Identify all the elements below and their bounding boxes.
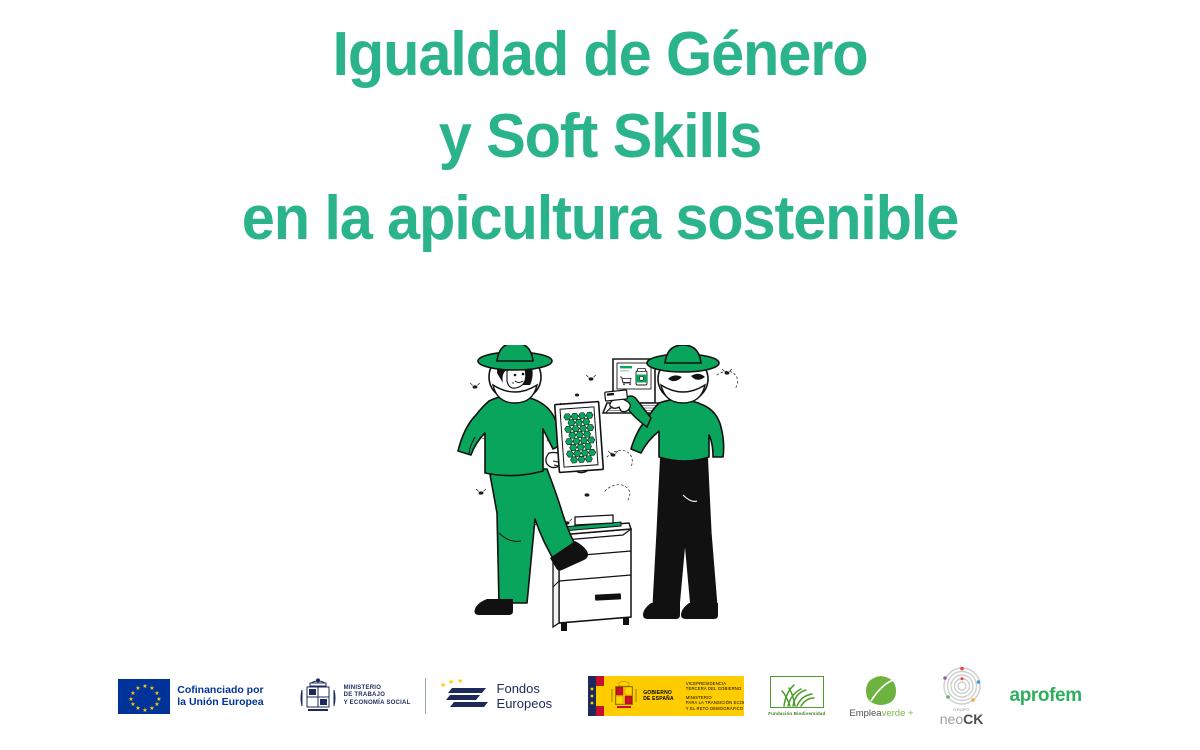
leaf-icon: [864, 674, 898, 706]
neock-neo-text: neo: [940, 711, 963, 727]
eu-flag-icon: ★ ★ ★ ★ ★ ★ ★ ★ ★ ★ ★ ★: [118, 679, 170, 714]
fondos-line-1: Fondos: [497, 681, 553, 696]
spain-flag-strip-icon: [588, 676, 604, 716]
funding-logo-bar: ★ ★ ★ ★ ★ ★ ★ ★ ★ ★ ★ ★ Cofinanciado por…: [0, 660, 1200, 732]
logo-cofinanciado-union-europea: ★ ★ ★ ★ ★ ★ ★ ★ ★ ★ ★ ★ Cofinanciado por…: [118, 679, 263, 714]
fondos-europeos-text: Fondos Europeos: [497, 681, 553, 711]
title-line-3: en la apicultura sostenible: [24, 178, 1176, 260]
min-line-3: Y EL RETO DEMOGRÁFICO: [686, 706, 744, 711]
logo-divider: [425, 678, 426, 714]
gobierno-de-espana-text: GOBIERNO DE ESPAÑA: [643, 690, 674, 702]
miteco-text: VICEPRESIDENCIA TERCERA DEL GOBIERNO MIN…: [686, 681, 744, 711]
svg-text:★: ★: [440, 681, 446, 689]
logo-gobierno-de-espana-miteco: GOBIERNO DE ESPAÑA VICEPRESIDENCIA TERCE…: [588, 676, 744, 716]
logo-fondos-europeos: ★★★ Fondos Europeos: [440, 679, 553, 713]
eu-text-line-2: la Unión Europea: [177, 696, 263, 709]
biodiversidad-grass-box: [770, 676, 824, 708]
neock-rings-icon: [940, 666, 984, 706]
eu-text-line-1: Cofinanciado por: [177, 684, 263, 697]
title-line-2: y Soft Skills: [24, 96, 1176, 178]
mtes-line-1: MINISTERIO: [344, 685, 411, 693]
min-line-2: PARA LA TRANSICIÓN ECOLÓGICA: [686, 700, 744, 705]
empleaverde-dark-text: Emplea: [849, 708, 881, 719]
gob-line-2: DE ESPAÑA: [643, 696, 674, 702]
neock-ck-text: CK: [963, 711, 983, 727]
neock-name-text: neoCK: [940, 712, 984, 727]
neock-wordmark: GRUPO neoCK: [940, 707, 984, 727]
empleaverde-green-text: verde +: [882, 708, 914, 719]
aprofem-wordmark: aprofem: [1010, 685, 1082, 707]
logo-aprofem: aprofem: [1010, 685, 1082, 707]
gobierno-yellow-block: GOBIERNO DE ESPAÑA VICEPRESIDENCIA TERCE…: [588, 676, 744, 716]
title-line-1: Igualdad de Género: [24, 14, 1176, 96]
ministerio-trabajo-text: MINISTERIO DE TRABAJO Y ECONOMÍA SOCIAL: [344, 685, 411, 708]
svg-text:★: ★: [448, 679, 454, 686]
page-title: Igualdad de Género y Soft Skills en la a…: [0, 14, 1200, 260]
grass-icon: [774, 681, 820, 707]
beekeeping-illustration: [455, 345, 755, 645]
mtes-line-3: Y ECONOMÍA SOCIAL: [344, 700, 411, 708]
logo-ministerio-trabajo-economia-social: MINISTERIO DE TRABAJO Y ECONOMÍA SOCIAL: [298, 677, 411, 715]
logo-fundacion-biodiversidad: Fundación Biodiversidad: [768, 676, 825, 716]
svg-text:★: ★: [457, 679, 463, 685]
eu-logo-text: Cofinanciado por la Unión Europea: [177, 684, 263, 709]
fondos-line-2: Europeos: [497, 696, 553, 711]
mtes-line-2: DE TRABAJO: [344, 692, 411, 700]
empleaverde-caption: Empleaverde +: [849, 708, 913, 719]
vice-line-2: TERCERA DEL GOBIERNO: [686, 686, 744, 691]
spanish-coat-of-arms-icon: [609, 680, 639, 712]
logo-grupo-neock: GRUPO neoCK: [940, 666, 984, 727]
logo-empleaverde: Empleaverde +: [849, 674, 913, 719]
fondos-europeos-mark-icon: ★★★: [440, 679, 490, 713]
spanish-coat-of-arms-icon: [298, 677, 338, 715]
fundacion-biodiversidad-caption: Fundación Biodiversidad: [768, 711, 825, 716]
